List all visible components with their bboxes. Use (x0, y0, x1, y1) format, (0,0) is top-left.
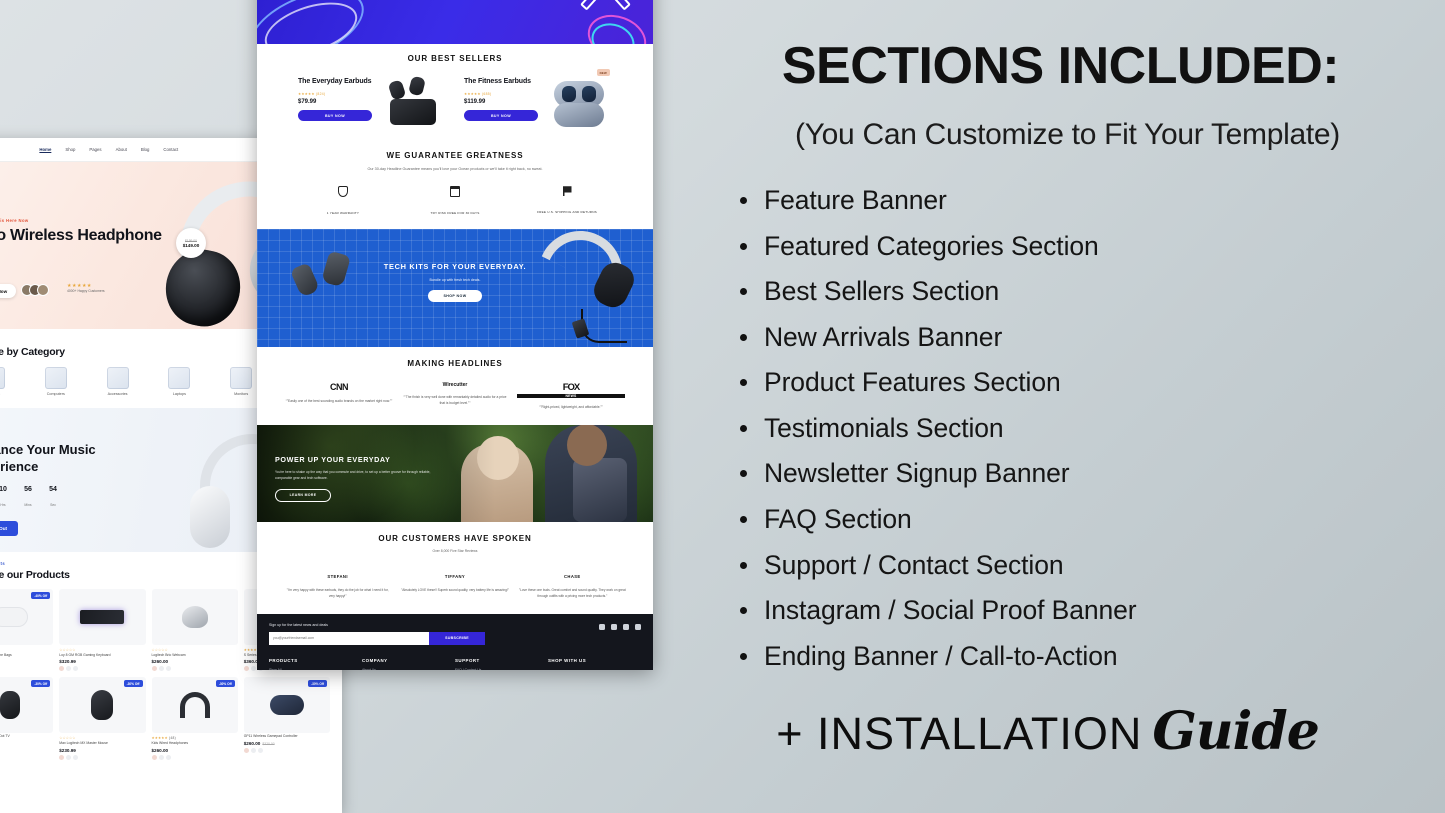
guide-script-text: Guide (1152, 701, 1318, 762)
product-price: $79.99 (298, 99, 372, 105)
product-name: Loy 8 GM RGB Gaming Keyboard (59, 653, 145, 657)
color-swatch[interactable] (59, 666, 64, 671)
product-name: Max Logitech MX Master Mouse (59, 741, 145, 745)
wishlist-icon[interactable] (251, 748, 256, 753)
countdown-unit: 56 Mins (19, 486, 37, 511)
guarantee-body: Our 30-day Headline Guarantee means you'… (257, 166, 653, 172)
hero-cta-label: Shop Now (0, 289, 7, 294)
left-mockup-nav-menu: Home Shop Pages About Blog Contact (39, 147, 178, 152)
press-quote: "Easily one of the best sounding audio b… (285, 399, 393, 405)
product-actions[interactable] (0, 748, 53, 753)
section-list-item: Product Features Section (730, 360, 1445, 406)
category-item[interactable]: Phones (0, 367, 19, 396)
press-quote: "The finish is very well done with remar… (401, 395, 509, 407)
product-card[interactable]: The Fitness Earbuds ★★★★★ (685) $119.99 … (464, 77, 612, 129)
footer-column-title: SHOP WITH US (548, 658, 641, 663)
product-rating: ☆☆☆☆☆ (59, 736, 145, 740)
product-stars: ★★★★★ (298, 92, 315, 96)
person-man-head (567, 425, 607, 466)
shop-now-button[interactable]: SHOP NOW (428, 290, 482, 302)
countdown-label: Hrs (0, 503, 5, 507)
customer-avatars (25, 284, 49, 296)
decorative-swoosh (258, 0, 364, 44)
category-label: Computers (31, 392, 81, 396)
earbud-right (408, 76, 426, 97)
center-lifestyle-banner: POWER UP YOUR EVERYDAY You're here to sh… (257, 425, 653, 522)
lifestyle-title: POWER UP YOUR EVERYDAY (275, 455, 435, 464)
footer-column-support: SUPPORT FAQ / Contact UsShipping and Ret… (455, 658, 548, 670)
footer-link[interactable]: About Us (362, 668, 455, 670)
countdown-timer: 15 Days 10 Hrs 56 Mins 54 Sec (0, 486, 130, 511)
product-actions[interactable] (152, 755, 238, 760)
color-swatch[interactable] (152, 666, 157, 671)
countdown-label: Sec (50, 503, 56, 507)
trust-badge: 1 YEAR WARRANTY (297, 186, 389, 219)
flag-icon (563, 186, 572, 196)
discount-badge: -30% Off (124, 680, 143, 687)
countdown-unit: 54 Sec (44, 486, 62, 511)
category-item[interactable]: Computers (31, 367, 81, 396)
nav-item-blog[interactable]: Blog (141, 147, 150, 152)
person-man-jacket (573, 458, 627, 522)
laptop-icon (168, 367, 190, 389)
section-list-item: Feature Banner (730, 178, 1445, 224)
product-image: -30% Off (0, 677, 53, 733)
press-quote: "Right-priced, lightweight, and affordab… (517, 405, 625, 411)
monitor-icon (230, 367, 252, 389)
promo-cta-button[interactable]: Check it Out (0, 521, 18, 536)
new-badge: NEW (597, 69, 610, 76)
wishlist-icon[interactable] (66, 755, 71, 760)
center-testimonials-section: OUR CUSTOMERS HAVE SPOKEN Over 8,000 Fiv… (257, 522, 653, 614)
trust-badges: 1 YEAR WARRANTY TRY RISK FREE FOR 30 DAY… (257, 186, 653, 219)
countdown-unit: 10 Hrs (0, 486, 12, 511)
hero-price-bubble: $199.00 $149.00 (176, 228, 206, 258)
fox-news-logo: FOXNEWS (517, 382, 625, 398)
wishlist-icon[interactable] (159, 755, 164, 760)
hero-shop-now-button[interactable]: 🛒 Shop Now (0, 284, 16, 298)
discount-badge: -30% Off (308, 680, 327, 687)
testimonial-item: STEFANI "I'm very happy with these earbu… (284, 565, 392, 600)
section-list-item: Ending Banner / Call-to-Action (730, 634, 1445, 680)
facebook-icon[interactable] (623, 624, 629, 630)
compare-icon[interactable] (73, 666, 78, 671)
price-new: $149.00 (183, 243, 200, 248)
newsletter-form: SUBSCRIBE (269, 632, 485, 645)
guarantee-title: WE GUARANTEE GREATNESS (257, 151, 653, 160)
product-photo (0, 691, 20, 719)
section-list-item: New Arrivals Banner (730, 315, 1445, 361)
product-card[interactable]: -30% OffGP11 Wireless Gamepad Controller… (244, 677, 330, 759)
section-list-item: FAQ Section (730, 497, 1445, 543)
nav-item-pages[interactable]: Pages (89, 147, 101, 152)
press-logo-list: CNN "Easily one of the best sounding aud… (257, 382, 653, 410)
product-actions[interactable] (152, 666, 238, 671)
testimonials-subtitle: Over 8,000 Five Star Reviews (257, 549, 653, 553)
best-sellers-title: OUR BEST SELLERS (257, 54, 653, 63)
product-rating: ★★★★★ (48) (152, 736, 238, 740)
product-image: NEW (550, 77, 612, 129)
shield-icon (338, 186, 348, 197)
product-photo (80, 610, 124, 624)
nav-item-contact[interactable]: Contact (163, 147, 178, 152)
product-rating: ★★★★★ (88) (0, 648, 53, 652)
testimonial-list: STEFANI "I'm very happy with these earbu… (257, 565, 653, 600)
promo-title: Enhance Your Music Experience (0, 442, 130, 476)
press-item: Wirecutter "The finish is very well done… (401, 382, 509, 410)
footer-column-title: SUPPORT (455, 658, 548, 663)
product-photo (182, 606, 208, 628)
best-sellers-list: The Everyday Earbuds ★★★★★ (824) $79.99 … (257, 77, 653, 129)
charging-case-bottom (554, 103, 604, 127)
product-price: $119.99 (464, 99, 538, 105)
testimonial-item: TIFFANY "Absolutely LOVE these!! Superb … (401, 565, 509, 600)
category-label: Phones (0, 392, 19, 396)
product-image (152, 589, 238, 645)
promo-tag: Best Deal (0, 432, 130, 437)
installation-guide-note: + INSTALLATIONGuide (690, 701, 1445, 762)
product-image: -30% Off (59, 677, 145, 733)
testimonial-author: TIFFANY (445, 574, 465, 579)
earbud-right (582, 86, 596, 102)
section-list-item: Support / Contact Section (730, 543, 1445, 589)
footer-column-products: PRODUCTS Shop AllEarbudsHeadphonesSpeake… (269, 658, 362, 670)
product-price: $230.99 (59, 748, 145, 753)
buy-now-button[interactable]: BUY NOW (464, 110, 538, 121)
category-item[interactable]: Accessories (93, 367, 143, 396)
product-image (384, 77, 446, 129)
trust-label: 1 YEAR WARRANTY (327, 211, 359, 215)
hero-rating: ★★★★★ 4000+ Happy Customers (67, 283, 105, 293)
testimonial-quote: "Love these one buds. Great comfort and … (518, 588, 626, 600)
wirecutter-logo: Wirecutter (401, 382, 509, 388)
nav-item-shop[interactable]: Shop (65, 147, 75, 152)
wishlist-icon[interactable] (159, 666, 164, 671)
countdown-value: 10 (0, 486, 12, 493)
nav-item-home[interactable]: Home (39, 147, 51, 152)
category-label: Laptops (154, 392, 204, 396)
discount-badge: -40% Off (31, 592, 50, 599)
rating-label: 4000+ Happy Customers (67, 289, 105, 293)
product-card[interactable]: ☆☆☆☆☆ Loy 8 GM RGB Gaming Keyboard$320.9… (59, 589, 145, 671)
sections-list: Feature BannerFeatured Categories Sectio… (690, 178, 1445, 679)
footer-column-title: PRODUCTS (269, 658, 362, 663)
compare-icon[interactable] (166, 755, 171, 760)
social-links (599, 624, 641, 630)
product-stars: ★★★★★ (464, 92, 481, 96)
section-list-item: Newsletter Signup Banner (730, 451, 1445, 497)
right-info-panel: SECTIONS INCLUDED: (You Can Customize to… (690, 0, 1445, 813)
section-list-item: Instagram / Social Proof Banner (730, 588, 1445, 634)
compare-icon[interactable] (166, 666, 171, 671)
trust-label: FREE U.S. SHIPPING AND RETURNS (537, 210, 597, 214)
product-card[interactable]: -30% OffAmazon Echo Media Dot TV$370.00$… (0, 677, 53, 759)
installation-text: + INSTALLATION (776, 708, 1142, 759)
phone-icon (0, 367, 5, 389)
color-swatch[interactable] (244, 666, 249, 671)
nav-item-about[interactable]: About (116, 147, 127, 152)
compare-icon[interactable] (73, 755, 78, 760)
twitter-icon[interactable] (635, 624, 641, 630)
product-name: GP11 Wireless Gamepad Controller (244, 734, 330, 738)
product-image: -40% Off (0, 589, 53, 645)
center-new-arrivals-banner: TECH KITS FOR YOUR EVERYDAY. Bundle up w… (257, 229, 653, 347)
product-review-count: (824) (316, 92, 325, 96)
cnn-logo: CNN (285, 382, 393, 392)
product-card[interactable]: -30% Off★★★★★ (48)Kids Wired Headphones$… (152, 677, 238, 759)
subscribe-button[interactable]: SUBSCRIBE (429, 632, 485, 645)
color-swatch[interactable] (59, 755, 64, 760)
product-photo (91, 690, 113, 720)
footer-columns: PRODUCTS Shop AllEarbudsHeadphonesSpeake… (269, 658, 641, 670)
product-photo (180, 692, 210, 718)
wishlist-icon[interactable] (251, 666, 256, 671)
center-best-sellers-section: OUR BEST SELLERS The Everyday Earbuds ★★… (257, 44, 653, 139)
countdown-value: 56 (19, 486, 37, 493)
footer-link[interactable]: FAQ / Contact Us (455, 668, 548, 670)
wishlist-icon[interactable] (66, 666, 71, 671)
fox-news-sub: NEWS (517, 394, 625, 398)
compare-icon[interactable] (258, 748, 263, 753)
charging-case (390, 99, 436, 125)
footer-link[interactable]: Shop All (269, 668, 362, 670)
instagram-icon[interactable] (599, 624, 605, 630)
newsletter-label: Sign up for the latest news and deals (269, 623, 641, 627)
banner-title: TECH KITS FOR YOUR EVERYDAY. (257, 261, 653, 272)
center-press-section: MAKING HEADLINES CNN "Easily one of the … (257, 347, 653, 424)
center-footer: Sign up for the latest news and deals SU… (257, 614, 653, 670)
testimonials-title: OUR CUSTOMERS HAVE SPOKEN (257, 534, 653, 543)
earbud-left (562, 86, 576, 102)
banner-subtitle: Bundle up with fresh tech deals. (257, 278, 653, 282)
color-swatch[interactable] (244, 748, 249, 753)
product-price: $260.00$320.00 (244, 741, 330, 746)
buy-now-button[interactable]: BUY NOW (298, 110, 372, 121)
product-review-count: (685) (482, 92, 491, 96)
color-swatch[interactable] (152, 755, 157, 760)
product-price: $320.99 (59, 659, 145, 664)
center-website-mockup: OUR BEST SELLERS The Everyday Earbuds ★★… (257, 0, 653, 670)
press-item: FOXNEWS "Right-priced, lightweight, and … (517, 382, 625, 410)
product-card[interactable]: -30% Off☆☆☆☆☆ Max Logitech MX Master Mou… (59, 677, 145, 759)
calendar-icon (450, 186, 460, 197)
learn-more-button[interactable]: LEARN MORE (275, 489, 331, 502)
hero-eyebrow: The Future is Here Now (0, 218, 29, 223)
product-photo (270, 695, 304, 715)
product-name: The Everyday Earbuds (298, 77, 372, 87)
testimonial-quote: "I'm very happy with these earbuds, they… (284, 588, 392, 600)
product-actions[interactable] (0, 666, 53, 671)
center-mockup-feature-banner (257, 0, 653, 44)
footer-column-title: COMPANY (362, 658, 455, 663)
footer-column-shop: SHOP WITH US Secure Checkout English ▾ (548, 658, 641, 670)
center-guarantee-section: WE GUARANTEE GREATNESS Our 30-day Headli… (257, 139, 653, 229)
earbud-left (388, 79, 407, 100)
product-card[interactable]: ☆☆☆☆☆ Logitech Brio Webcam$260.00 (152, 589, 238, 671)
product-name: Logitech Brio Webcam (152, 653, 238, 657)
discount-badge: -30% Off (216, 680, 235, 687)
product-image: -30% Off (152, 677, 238, 733)
product-rating: ☆☆☆☆☆ (59, 648, 145, 652)
trust-label: TRY RISK FREE FOR 30 DAYS (430, 211, 479, 215)
product-actions[interactable] (59, 666, 145, 671)
testimonial-quote: "Absolutely LOVE these!! Superb sound qu… (401, 588, 509, 594)
page-title: SECTIONS INCLUDED: (690, 36, 1445, 96)
product-name: Kids Wired Headphones (152, 741, 238, 745)
cable-graphic (581, 309, 627, 343)
product-name: The Fitness Earbuds (464, 77, 538, 87)
youtube-icon[interactable] (611, 624, 617, 630)
product-card[interactable]: The Everyday Earbuds ★★★★★ (824) $79.99 … (298, 77, 446, 129)
product-price: $370.00$400.00 (0, 741, 53, 746)
section-list-item: Testimonials Section (730, 406, 1445, 452)
product-photo (0, 607, 28, 627)
product-rating: ☆☆☆☆☆ (152, 648, 238, 652)
testimonial-item: CHASE "Love these one buds. Great comfor… (518, 565, 626, 600)
trust-badge: FREE U.S. SHIPPING AND RETURNS (521, 186, 613, 219)
testimonial-author: CHASE (564, 574, 581, 579)
product-actions[interactable] (59, 755, 145, 760)
email-input[interactable] (269, 632, 429, 645)
banner-headphone-image (407, 0, 527, 18)
lifestyle-body: You're here to shake up the way that you… (275, 469, 435, 481)
product-image: -30% Off (244, 677, 330, 733)
category-item[interactable]: Laptops (154, 367, 204, 396)
product-price: $260.00 (152, 748, 238, 753)
trust-badge: TRY RISK FREE FOR 30 DAYS (409, 186, 501, 219)
product-card[interactable]: -40% Off★★★★★ (88)Havit Leather & Fortun… (0, 589, 53, 671)
product-price: $120.00$160.00 (0, 659, 53, 664)
avatar (37, 284, 49, 296)
headphone-cup-left (190, 486, 230, 548)
countdown-label: Mins (24, 503, 31, 507)
section-list-item: Featured Categories Section (730, 224, 1445, 270)
press-title: MAKING HEADLINES (257, 359, 653, 368)
product-price: $260.00 (152, 659, 238, 664)
computer-icon (45, 367, 67, 389)
footer-column-company: COMPANY About UsB2BCareers (362, 658, 455, 670)
accessories-icon (107, 367, 129, 389)
product-name: Havit Leather & Fortune Bags (0, 653, 53, 657)
page-subtitle: (You Can Customize to Fit Your Template) (690, 118, 1445, 152)
countdown-value: 54 (44, 486, 62, 493)
product-actions[interactable] (244, 748, 330, 753)
category-label: Accessories (93, 392, 143, 396)
product-image (59, 589, 145, 645)
testimonial-author: STEFANI (327, 574, 347, 579)
press-item: CNN "Easily one of the best sounding aud… (285, 382, 393, 410)
discount-badge: -30% Off (31, 680, 50, 687)
product-name: Amazon Echo Media Dot TV (0, 734, 53, 738)
section-list-item: Best Sellers Section (730, 269, 1445, 315)
